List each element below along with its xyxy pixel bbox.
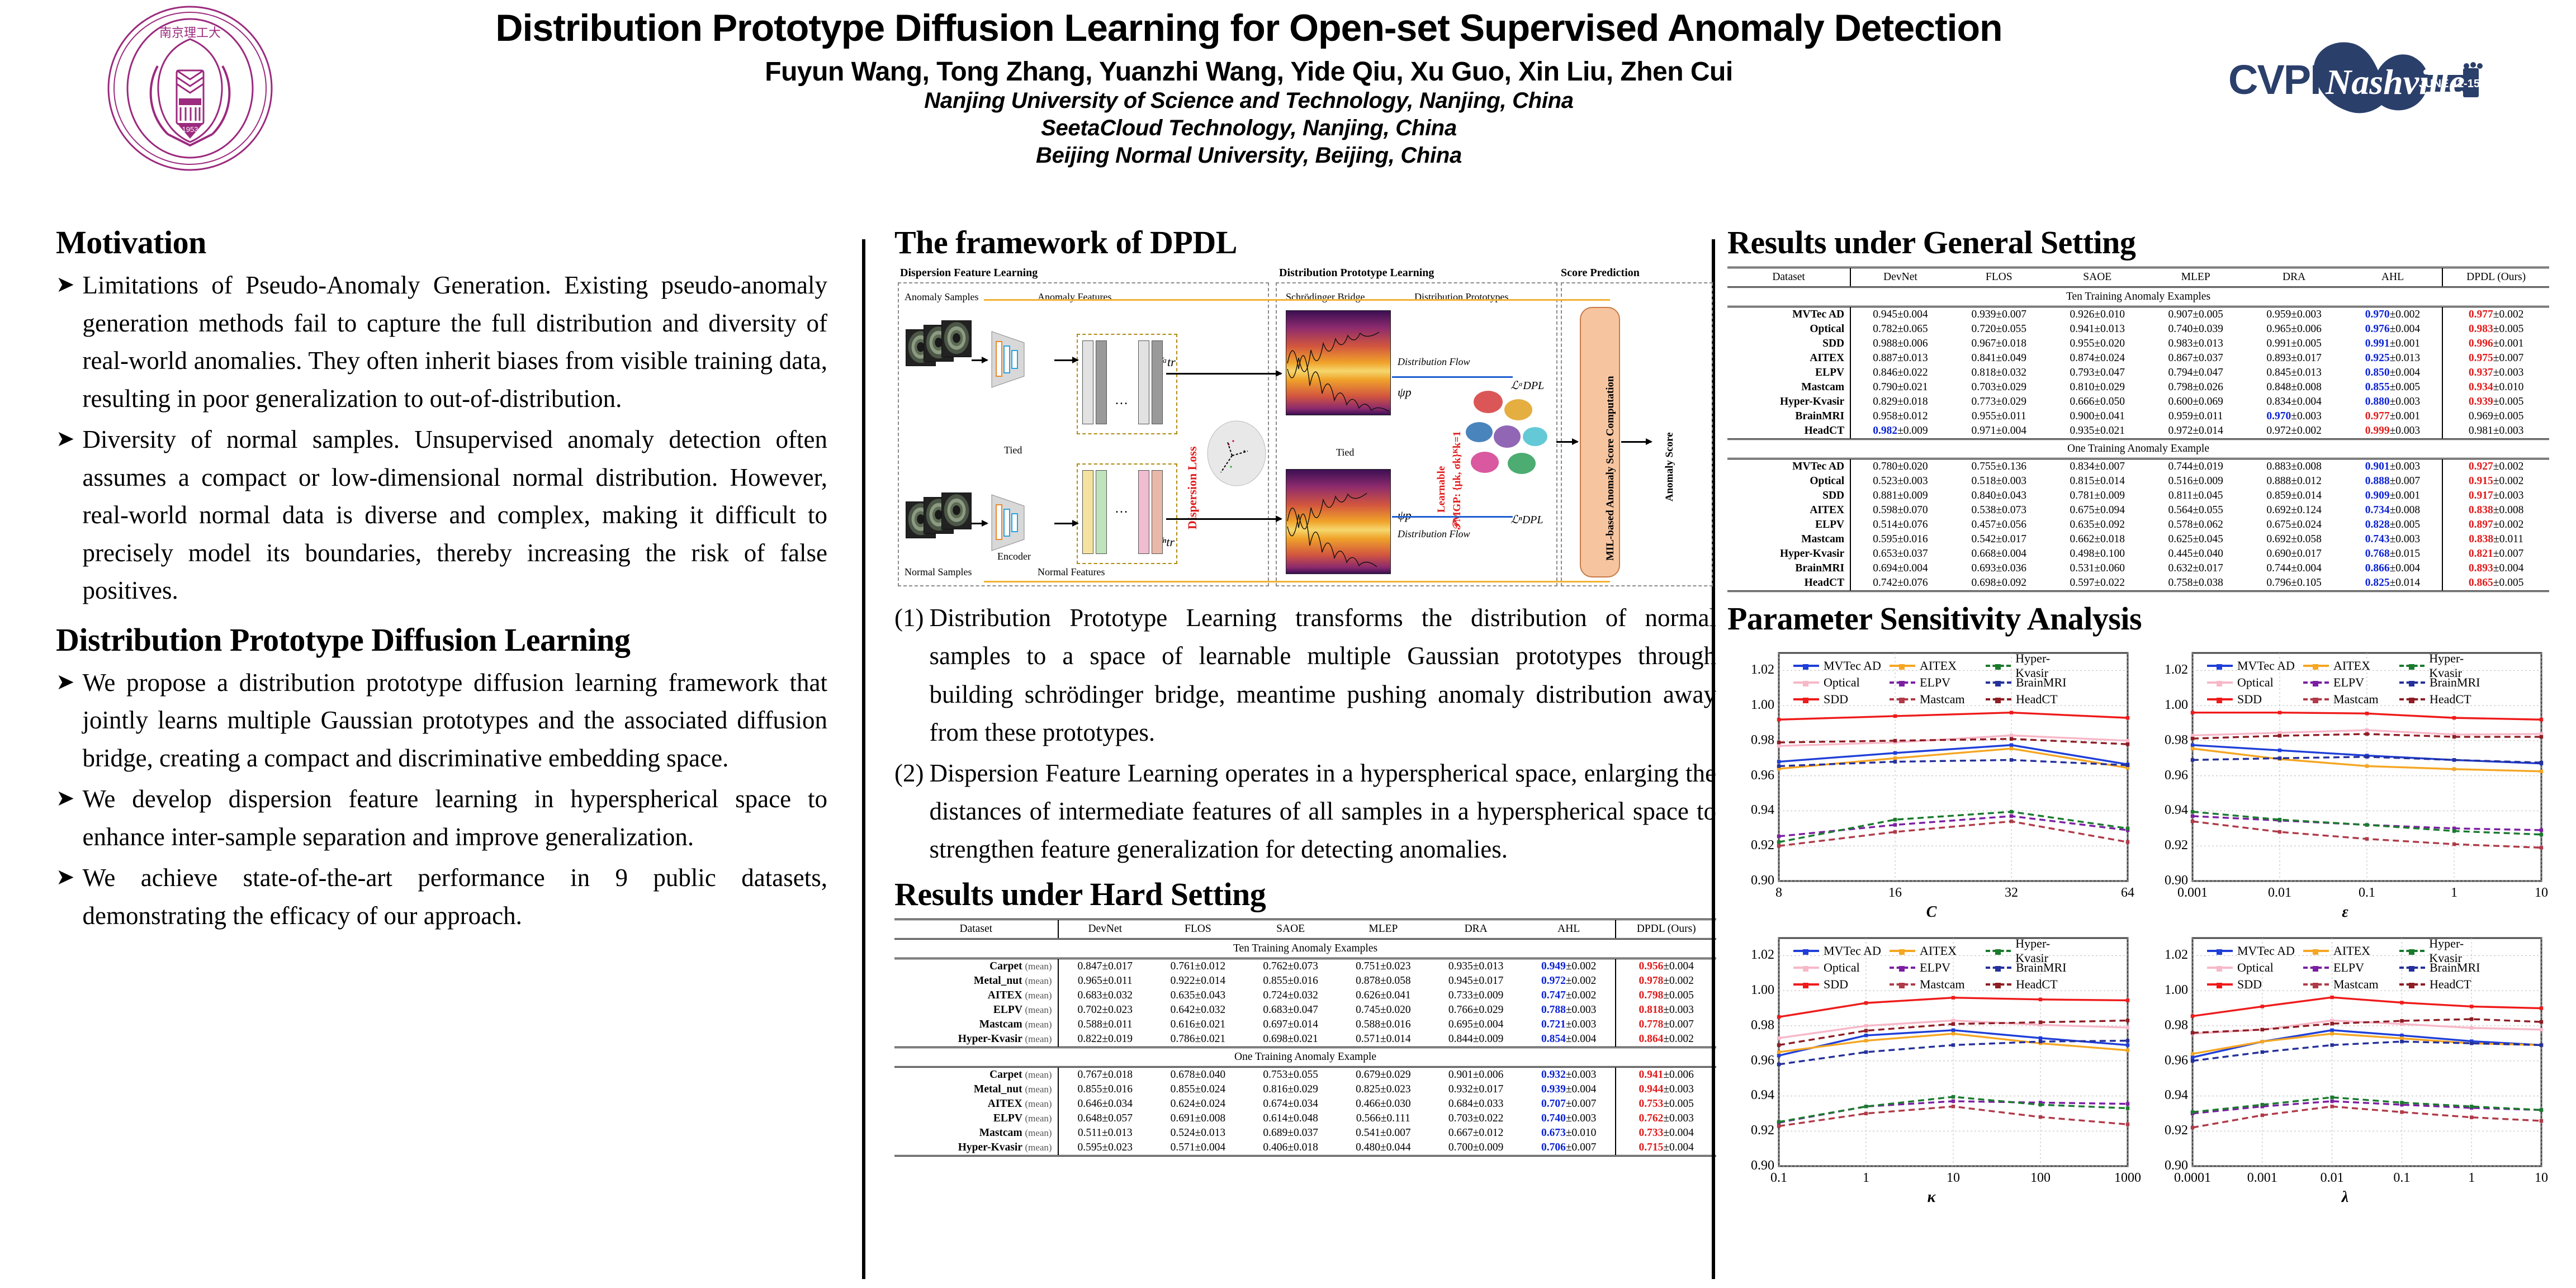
table-cell: 0.838±0.008	[2442, 503, 2549, 518]
table-header-cell: MLEP	[1337, 919, 1430, 939]
label-tied-right: Tied	[1336, 447, 1354, 458]
table-row: Mastcam (mean)0.588±0.0110.616±0.0210.69…	[894, 1017, 1716, 1032]
table-cell: 0.626±0.041	[1337, 988, 1430, 1003]
table-cell: 0.893±0.017	[2245, 351, 2343, 366]
sensitivity-heading: Parameter Sensitivity Analysis	[1727, 600, 2549, 637]
y-axis-tick: 1.02	[1730, 948, 1774, 963]
table-cell: 0.694±0.004	[1850, 561, 1950, 576]
legend-item: Optical	[1793, 675, 1890, 690]
gaussian-prototypes-plot	[1453, 378, 1560, 496]
table-cell: 0.956±0.004	[1616, 958, 1716, 974]
arrow-dpl-n	[1392, 516, 1513, 518]
table-cell: 0.926±0.010	[2048, 307, 2147, 323]
legend-label: SDD	[2237, 977, 2262, 992]
table-cell: 0.901±0.003	[2343, 459, 2443, 475]
legend-label: HeadCT	[2016, 977, 2058, 992]
y-axis-tick: 1.02	[1730, 662, 1774, 678]
legend-label: BrainMRI	[2016, 960, 2066, 975]
legend-item: Mastcam	[2303, 692, 2399, 707]
label-anomaly-score: Anomaly Score	[1664, 432, 1676, 501]
table-row: MVTec AD0.780±0.0200.755±0.1360.834±0.00…	[1727, 459, 2549, 475]
table-cell: 0.498±0.100	[2048, 547, 2147, 561]
table-cell: 0.571±0.004	[1152, 1140, 1244, 1156]
nust-logo: 1953 南京理工大	[106, 4, 274, 172]
table-cell: 0.531±0.060	[2048, 561, 2147, 576]
label-learnable: Learnable	[1436, 466, 1448, 513]
table-row-label: Mastcam (mean)	[894, 1126, 1058, 1140]
x-axis-label: λ	[2141, 1188, 2549, 1206]
table-cell: 0.845±0.013	[2245, 366, 2343, 380]
legend-item: AITEX	[1890, 944, 1986, 958]
legend-label: SDD	[2237, 692, 2262, 707]
framework-point-2: (2) Dispersion Feature Learning operates…	[894, 754, 1716, 869]
x-axis-tick: 0.1	[2333, 885, 2400, 901]
legend-item: ELPV	[1890, 675, 1986, 690]
table-cell: 0.825±0.023	[1337, 1082, 1430, 1097]
encoder-normal-icon	[989, 491, 1051, 553]
table-cell: 0.684±0.033	[1429, 1097, 1522, 1111]
legend-label: Optical	[2237, 960, 2274, 975]
legend-label: MVTec AD	[1824, 944, 1881, 958]
table-row: Hyper-Kvasir (mean)0.595±0.0230.571±0.00…	[894, 1140, 1716, 1156]
legend-item: Mastcam	[1890, 692, 1986, 707]
dpdl-bullet-1: ➤ We propose a distribution prototype di…	[56, 664, 827, 778]
legend-label: Mastcam	[1920, 977, 1965, 992]
table-cell: 0.588±0.011	[1058, 1017, 1152, 1032]
table-row: Hyper-Kvasir0.829±0.0180.773±0.0290.666±…	[1727, 395, 2549, 409]
x-axis-tick: 0.01	[2246, 885, 2313, 901]
label-anomaly-features: Anomaly Features	[1038, 291, 1111, 303]
logo-year-text: 1953	[182, 125, 198, 134]
poster-columns: Motivation ➤ Limitations of Pseudo-Anoma…	[0, 224, 2576, 1288]
table-cell: 0.642±0.032	[1152, 1003, 1244, 1017]
table-cell: 0.635±0.043	[1152, 988, 1244, 1003]
table-cell: 0.816±0.029	[1244, 1082, 1337, 1097]
table-cell: 0.624±0.024	[1152, 1097, 1244, 1111]
table-cell: 0.778±0.007	[1616, 1017, 1716, 1032]
table-cell: 0.781±0.009	[2048, 489, 2147, 503]
legend-item: BrainMRI	[1986, 675, 2082, 690]
table-cell: 0.721±0.003	[1522, 1017, 1616, 1032]
table-row: SDD0.988±0.0060.967±0.0180.955±0.0200.98…	[1727, 337, 2549, 351]
table-cell: 0.518±0.003	[1950, 474, 2048, 489]
cvpr-text: CVPR	[2228, 56, 2339, 103]
table-cell: 0.588±0.016	[1337, 1017, 1430, 1032]
legend-item: Optical	[2207, 675, 2303, 690]
motivation-bullet-2: ➤ Diversity of normal samples. Unsupervi…	[56, 421, 827, 610]
table-section-title: Ten Training Anomaly Examples	[1727, 287, 2549, 307]
table-cell: 0.762±0.003	[1616, 1111, 1716, 1126]
y-axis-tick: 1.02	[2143, 948, 2188, 963]
legend-label: MVTec AD	[1824, 659, 1881, 673]
table-row: AITEX0.598±0.0700.538±0.0730.675±0.0940.…	[1727, 503, 2549, 518]
label-psi-p-bottom: ψp	[1398, 508, 1412, 523]
affiliation-2: SeetaCloud Technology, Nanjing, China	[313, 115, 2185, 142]
x-axis-tick: 1	[1832, 1171, 1900, 1186]
arrow-anomaly-to-bridge	[1166, 373, 1281, 375]
table-cell: 0.675±0.024	[2245, 518, 2343, 532]
y-axis-tick: 0.98	[1730, 733, 1774, 748]
legend-item: AITEX	[1890, 659, 1986, 673]
table-row-label: Metal_nut (mean)	[894, 974, 1058, 988]
table-cell: 0.855±0.024	[1152, 1082, 1244, 1097]
legend-item: Mastcam	[1890, 977, 1986, 992]
table-cell: 0.798±0.026	[2147, 380, 2245, 395]
x-axis-tick: 10	[2508, 1171, 2575, 1186]
table-cell: 0.445±0.040	[2147, 547, 2245, 561]
label-psi-p-top: ψp	[1398, 385, 1412, 400]
table-cell: 0.786±0.021	[1152, 1032, 1244, 1048]
y-axis-tick: 0.92	[2143, 1123, 2188, 1138]
legend-label: HeadCT	[2430, 977, 2471, 992]
bullet-arrow-icon: ➤	[56, 267, 75, 418]
table-cell: 0.740±0.003	[1522, 1111, 1616, 1126]
y-axis-tick: 0.96	[2143, 1053, 2188, 1068]
legend-item: HeadCT	[1986, 692, 2082, 707]
table-header-cell: AHL	[2343, 268, 2443, 287]
affiliation-3: Beijing Normal University, Beijing, Chin…	[313, 142, 2185, 169]
table-cell: 0.683±0.047	[1244, 1003, 1337, 1017]
framework-point-2-number: (2)	[894, 754, 924, 869]
y-axis-tick: 0.96	[2143, 768, 2188, 783]
poster-header: 1953 南京理工大 Distribution Prototype Diffus…	[0, 0, 2576, 224]
table-row-label: BrainMRI	[1727, 561, 1850, 576]
table-cell: 0.881±0.009	[1850, 489, 1950, 503]
table-row-label: Hyper-Kvasir (mean)	[894, 1140, 1058, 1156]
table-cell: 0.982±0.009	[1850, 424, 1950, 439]
table-cell: 0.707±0.007	[1522, 1097, 1616, 1111]
poster-root: 1953 南京理工大 Distribution Prototype Diffus…	[0, 0, 2576, 1288]
normal-sample-thumbnail	[941, 493, 972, 529]
feedback-arrow-bottom	[984, 581, 1610, 583]
table-row: Optical0.523±0.0030.518±0.0030.815±0.014…	[1727, 474, 2549, 489]
legend-label: HeadCT	[2016, 692, 2058, 707]
table-cell: 0.975±0.007	[2442, 351, 2549, 366]
table-cell: 0.793±0.047	[2048, 366, 2147, 380]
table-cell: 0.538±0.073	[1950, 503, 2048, 518]
dpdl-bullet-2-text: We develop dispersion feature learning i…	[83, 780, 827, 856]
table-cell: 0.724±0.032	[1244, 988, 1337, 1003]
y-axis-tick: 1.00	[1730, 698, 1774, 713]
table-row-label: AITEX (mean)	[894, 1097, 1058, 1111]
table-cell: 0.758±0.038	[2147, 576, 2245, 591]
legend-item: AITEX	[2303, 944, 2399, 958]
legend-label: SDD	[1824, 692, 1848, 707]
table-row: ELPV (mean)0.648±0.0570.691±0.0080.614±0…	[894, 1111, 1716, 1126]
table-row: Mastcam (mean)0.511±0.0130.524±0.0130.68…	[894, 1126, 1716, 1140]
x-axis-tick: 0.01	[2299, 1171, 2366, 1186]
legend-label: AITEX	[2333, 944, 2370, 958]
table-cell: 0.932±0.003	[1522, 1067, 1616, 1082]
table-cell: 0.755±0.136	[1950, 459, 2048, 475]
legend-item: Mastcam	[2303, 977, 2399, 992]
table-cell: 0.838±0.011	[2442, 532, 2549, 547]
label-normal-features: Normal Features	[1038, 566, 1105, 578]
table-cell: 0.766±0.029	[1429, 1003, 1522, 1017]
table-row-label: Mastcam (mean)	[894, 1017, 1058, 1032]
table-row-label: ELPV (mean)	[894, 1111, 1058, 1126]
table-cell: 0.854±0.004	[1522, 1032, 1616, 1048]
table-cell: 0.959±0.011	[2147, 409, 2245, 424]
table-row-label: Optical	[1727, 322, 1850, 337]
y-axis-tick: 0.92	[1730, 838, 1774, 853]
table-cell: 0.850±0.004	[2343, 366, 2443, 380]
table-cell: 0.955±0.011	[1950, 409, 2048, 424]
legend-label: Optical	[1824, 675, 1860, 690]
table-row: Optical0.782±0.0650.720±0.0550.941±0.013…	[1727, 322, 2549, 337]
table-row-label: Hyper-Kvasir	[1727, 395, 1850, 409]
legend-label: AITEX	[1920, 944, 1957, 958]
table-row: AITEX (mean)0.646±0.0340.624±0.0240.674±…	[894, 1097, 1716, 1111]
table-cell: 0.667±0.012	[1429, 1126, 1522, 1140]
table-cell: 0.762±0.073	[1244, 958, 1337, 974]
table-cell: 0.689±0.037	[1244, 1126, 1337, 1140]
table-row: BrainMRI0.694±0.0040.693±0.0360.531±0.06…	[1727, 561, 2549, 576]
conference-dates: JUNE 11-15, 2025	[2419, 78, 2511, 90]
chart-legend: MVTec ADAITEXHyper-KvasirOpticalELPVBrai…	[2207, 943, 2495, 993]
table-row: Metal_nut (mean)0.965±0.0110.922±0.0140.…	[894, 974, 1716, 988]
table-cell: 0.679±0.029	[1337, 1067, 1430, 1082]
affiliation-1: Nanjing University of Science and Techno…	[313, 87, 2185, 115]
table-cell: 0.790±0.021	[1850, 380, 1950, 395]
legend-label: BrainMRI	[2430, 960, 2480, 975]
table-cell: 0.883±0.008	[2245, 459, 2343, 475]
table-cell: 0.834±0.007	[2048, 459, 2147, 475]
framework-point-1: (1) Distribution Prototype Learning tran…	[894, 599, 1716, 752]
table-cell: 0.855±0.016	[1058, 1082, 1152, 1097]
table-cell: 0.744±0.019	[2147, 459, 2245, 475]
y-axis-tick: 1.00	[2143, 983, 2188, 998]
table-cell: 0.700±0.009	[1429, 1140, 1522, 1156]
table-cell: 0.745±0.020	[1337, 1003, 1430, 1017]
x-axis-tick: 32	[1978, 885, 2045, 901]
y-axis-tick: 0.98	[2143, 733, 2188, 748]
table-cell: 0.939±0.005	[2442, 395, 2549, 409]
table-cell: 0.977±0.002	[2442, 307, 2549, 323]
framework-heading: The framework of DPDL	[894, 224, 1716, 261]
legend-label: Mastcam	[1920, 692, 1965, 707]
table-row: Mastcam0.790±0.0210.703±0.0290.810±0.029…	[1727, 380, 2549, 395]
table-cell: 0.733±0.009	[1429, 988, 1522, 1003]
table-cell: 0.909±0.001	[2343, 489, 2443, 503]
table-header-cell: Dataset	[894, 919, 1058, 939]
y-axis-tick: 0.94	[1730, 1088, 1774, 1103]
legend-label: Optical	[2237, 675, 2274, 690]
y-axis-tick: 0.98	[1730, 1018, 1774, 1033]
table-cell: 0.740±0.039	[2147, 322, 2245, 337]
table-row-label: ELPV	[1727, 366, 1850, 380]
label-loss-dpl-n: ℒⁿDPL	[1510, 513, 1543, 527]
column-divider-1	[862, 239, 865, 1279]
table-header-cell: FLOS	[1950, 268, 2048, 287]
x-axis-tick: 0.001	[2229, 1171, 2296, 1186]
table-cell: 0.703±0.029	[1950, 380, 2048, 395]
label-normal-samples: Normal Samples	[905, 566, 972, 578]
table-cell: 0.695±0.004	[1429, 1017, 1522, 1032]
y-axis-tick: 0.96	[1730, 768, 1774, 783]
author-list: Fuyun Wang, Tong Zhang, Yuanzhi Wang, Yi…	[313, 56, 2185, 87]
x-axis-tick: 10	[1920, 1171, 1987, 1186]
legend-item: MVTec AD	[1793, 659, 1890, 673]
table-row-label: SDD	[1727, 337, 1850, 351]
table-cell: 0.907±0.005	[2147, 307, 2245, 323]
table-cell: 0.780±0.020	[1850, 459, 1950, 475]
table-cell: 0.698±0.092	[1950, 576, 2048, 591]
table-cell: 0.887±0.013	[1850, 351, 1950, 366]
hard-setting-table: DatasetDevNetFLOSSAOEMLEPDRAAHLDPDL (Our…	[894, 918, 1716, 1157]
table-cell: 0.811±0.045	[2147, 489, 2245, 503]
bullet-arrow-icon: ➤	[56, 859, 75, 935]
table-cell: 0.841±0.049	[1950, 351, 2048, 366]
legend-item: HeadCT	[1986, 977, 2082, 992]
schrodinger-bridge-anomaly-plot	[1286, 310, 1391, 415]
table-cell: 0.564±0.055	[2147, 503, 2245, 518]
x-axis-label: ε	[2141, 903, 2549, 921]
y-axis-tick: 1.00	[1730, 983, 1774, 998]
table-cell: 0.972±0.014	[2147, 424, 2245, 439]
legend-item: AITEX	[2303, 659, 2399, 673]
x-axis-label: C	[1727, 903, 2135, 921]
dpdl-bullet-3: ➤ We achieve state-of-the-art performanc…	[56, 859, 827, 935]
table-row: AITEX0.887±0.0130.841±0.0490.874±0.0240.…	[1727, 351, 2549, 366]
table-cell: 0.847±0.017	[1058, 958, 1152, 974]
table-cell: 0.934±0.010	[2442, 380, 2549, 395]
table-cell: 0.625±0.045	[2147, 532, 2245, 547]
table-cell: 0.698±0.021	[1244, 1032, 1337, 1048]
table-cell: 0.706±0.007	[1522, 1140, 1616, 1156]
table-cell: 0.796±0.105	[2245, 576, 2343, 591]
table-cell: 0.542±0.017	[1950, 532, 2048, 547]
table-cell: 0.971±0.004	[1950, 424, 2048, 439]
table-cell: 0.541±0.007	[1337, 1126, 1430, 1140]
table-row-label: Hyper-Kvasir (mean)	[894, 1032, 1058, 1048]
page-title: Distribution Prototype Diffusion Learnin…	[313, 8, 2185, 49]
x-axis-tick: 1	[2421, 885, 2488, 901]
table-cell: 0.773±0.029	[1950, 395, 2048, 409]
arrow-dpl-a	[1392, 376, 1513, 378]
label-anomaly-samples: Anomaly Samples	[905, 291, 979, 303]
table-cell: 0.523±0.003	[1850, 474, 1950, 489]
legend-label: ELPV	[1920, 675, 1950, 690]
table-cell: 0.678±0.040	[1152, 1067, 1244, 1082]
table-row: Hyper-Kvasir (mean)0.822±0.0190.786±0.02…	[894, 1032, 1716, 1048]
label-schrodinger-bridge: Schrödinger Bridge	[1286, 291, 1365, 303]
table-cell: 0.668±0.004	[1950, 547, 2048, 561]
table-cell: 0.880±0.003	[2343, 395, 2443, 409]
motivation-bullet-1: ➤ Limitations of Pseudo-Anomaly Generati…	[56, 267, 827, 418]
legend-item: ELPV	[1890, 960, 1986, 975]
general-setting-heading: Results under General Setting	[1727, 224, 2549, 261]
table-cell: 0.768±0.015	[2343, 547, 2443, 561]
table-cell: 0.965±0.006	[2245, 322, 2343, 337]
table-cell: 0.815±0.014	[2048, 474, 2147, 489]
table-cell: 0.595±0.023	[1058, 1140, 1152, 1156]
table-cell: 0.848±0.008	[2245, 380, 2343, 395]
legend-item: HeadCT	[2399, 977, 2495, 992]
table-cell: 0.901±0.006	[1429, 1067, 1522, 1082]
anomaly-feature-bars	[1152, 340, 1163, 424]
table-header-cell: SAOE	[2048, 268, 2147, 287]
legend-label: ELPV	[2333, 960, 2364, 975]
legend-label: AITEX	[2333, 659, 2370, 673]
table-row: HeadCT0.742±0.0760.698±0.0920.597±0.0220…	[1727, 576, 2549, 591]
framework-point-2-text: Dispersion Feature Learning operates in …	[929, 754, 1716, 869]
table-cell: 0.983±0.005	[2442, 322, 2549, 337]
table-cell: 0.944±0.003	[1616, 1082, 1716, 1097]
x-axis-tick: 8	[1745, 885, 1812, 901]
table-cell: 0.991±0.001	[2343, 337, 2443, 351]
legend-item: BrainMRI	[1986, 960, 2082, 975]
y-axis-tick: 1.02	[2143, 662, 2188, 678]
table-row: ELPV0.846±0.0220.818±0.0320.793±0.0470.7…	[1727, 366, 2549, 380]
table-cell: 0.937±0.003	[2442, 366, 2549, 380]
table-cell: 0.566±0.111	[1337, 1111, 1430, 1126]
table-header-cell: DevNet	[1850, 268, 1950, 287]
column-middle: The framework of DPDL Dispersion Feature…	[894, 224, 1716, 1288]
arrow-normal-to-bridge	[1166, 518, 1281, 520]
svg-text:南京理工大: 南京理工大	[159, 26, 221, 40]
table-cell: 0.888±0.012	[2245, 474, 2343, 489]
table-cell: 0.941±0.006	[1616, 1067, 1716, 1082]
table-section-title: One Training Anomaly Example	[894, 1047, 1716, 1067]
table-cell: 0.935±0.013	[1429, 958, 1522, 974]
encoder-anomaly-icon	[989, 328, 1051, 390]
table-cell: 0.846±0.022	[1850, 366, 1950, 380]
table-cell: 0.480±0.044	[1337, 1140, 1430, 1156]
framework-point-1-number: (1)	[894, 599, 924, 752]
table-cell: 0.733±0.004	[1616, 1126, 1716, 1140]
column-right: Results under General Setting DatasetDev…	[1727, 224, 2549, 1288]
x-axis-label: κ	[1727, 1188, 2135, 1206]
table-cell: 0.632±0.017	[2147, 561, 2245, 576]
table-cell: 0.925±0.013	[2343, 351, 2443, 366]
table-row-label: AITEX	[1727, 503, 1850, 518]
chart-kappa: 0.900.920.940.960.981.001.020.1110100100…	[1727, 928, 2135, 1207]
group-title-dfl: Dispersion Feature Learning	[900, 267, 1038, 280]
table-cell: 0.969±0.005	[2442, 409, 2549, 424]
table-cell: 0.673±0.010	[1522, 1126, 1616, 1140]
table-cell: 0.840±0.043	[1950, 489, 2048, 503]
table-cell: 0.818±0.032	[1950, 366, 2048, 380]
table-row-label: AITEX	[1727, 351, 1850, 366]
table-cell: 0.516±0.009	[2147, 474, 2245, 489]
table-cell: 0.595±0.016	[1850, 532, 1950, 547]
table-cell: 0.598±0.070	[1850, 503, 1950, 518]
bullet-arrow-icon: ➤	[56, 421, 75, 610]
legend-label: ELPV	[2333, 675, 2364, 690]
table-cell: 0.511±0.013	[1058, 1126, 1152, 1140]
table-cell: 0.798±0.005	[1616, 988, 1716, 1003]
label-distribution-flow-bottom: Distribution Flow	[1398, 528, 1470, 540]
general-setting-table: DatasetDevNetFLOSSAOEMLEPDRAAHLDPDL (Our…	[1727, 267, 2549, 592]
table-cell: 0.972±0.002	[2245, 424, 2343, 439]
x-axis-tick: 100	[2007, 1171, 2074, 1186]
table-cell: 0.662±0.018	[2048, 532, 2147, 547]
legend-item: BrainMRI	[2399, 675, 2495, 690]
table-cell: 0.867±0.037	[2147, 351, 2245, 366]
table-cell: 0.996±0.001	[2442, 337, 2549, 351]
table-row-label: MVTec AD	[1727, 307, 1850, 323]
table-row: ELPV (mean)0.702±0.0230.642±0.0320.683±0…	[894, 1003, 1716, 1017]
table-cell: 0.932±0.017	[1429, 1082, 1522, 1097]
table-cell: 0.674±0.034	[1244, 1097, 1337, 1111]
table-row: Mastcam0.595±0.0160.542±0.0170.662±0.018…	[1727, 532, 2549, 547]
table-cell: 0.614±0.048	[1244, 1111, 1337, 1126]
table-cell: 0.715±0.004	[1616, 1140, 1716, 1156]
table-cell: 0.597±0.022	[2048, 576, 2147, 591]
legend-label: AITEX	[1920, 659, 1957, 673]
table-cell: 0.693±0.036	[1950, 561, 2048, 576]
